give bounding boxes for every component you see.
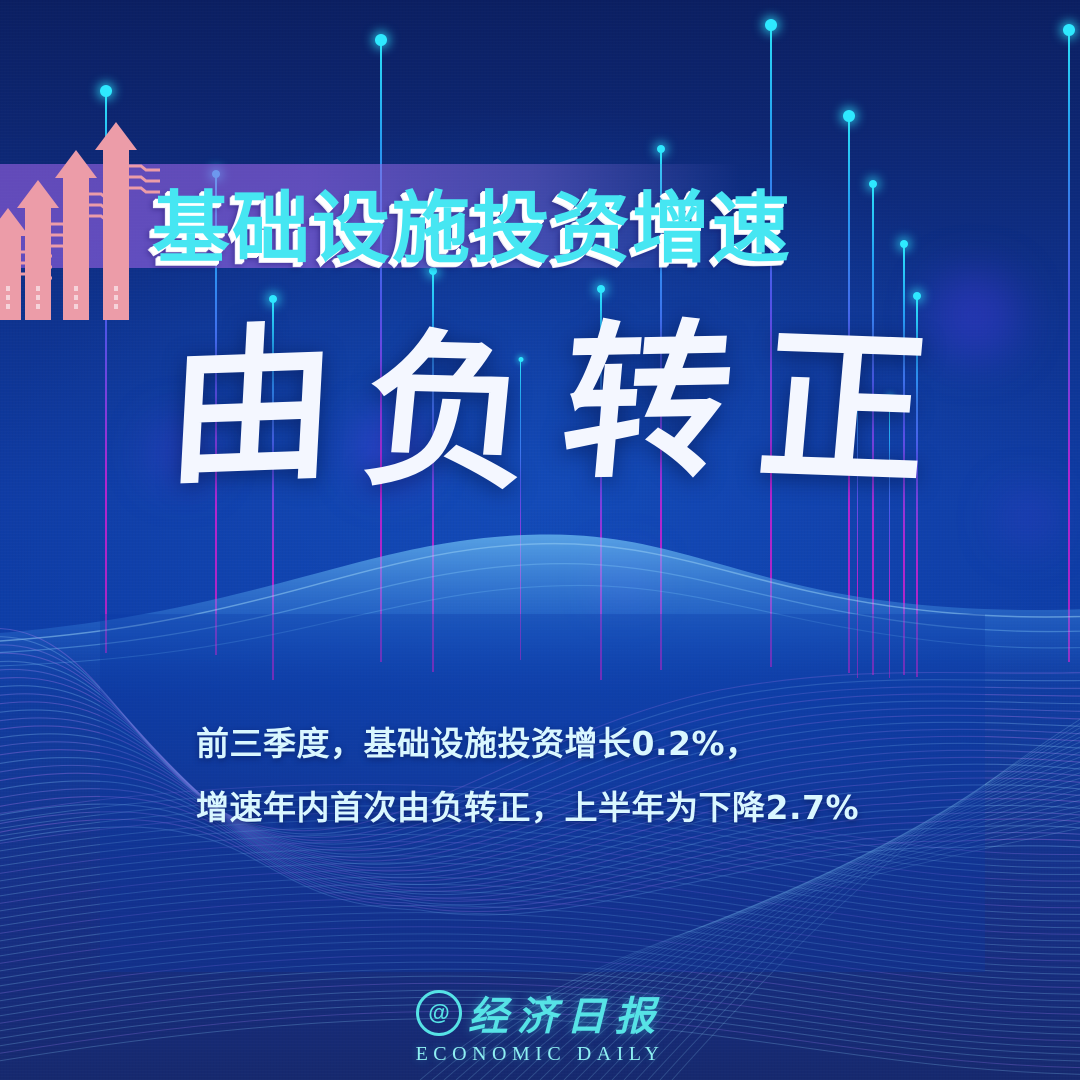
arrow-stem-tick: [6, 286, 10, 291]
bokeh-blob: [600, 555, 650, 605]
arrow-stem-tick: [36, 295, 40, 300]
at-sign-icon: @: [416, 990, 462, 1036]
body-copy-line: 增速年内首次由负转正，上半年为下降2.7%: [196, 776, 956, 840]
logo-row: @ 经济日报: [416, 984, 664, 1042]
arrow-stem-tick: [114, 286, 118, 291]
beam-tip-dot: [1063, 24, 1075, 36]
arrow-stem-tick: [6, 295, 10, 300]
arrow-stem-tick: [36, 286, 40, 291]
headline-char: 由: [163, 319, 340, 493]
light-beam: [1068, 32, 1070, 662]
beam-tip-dot: [765, 19, 777, 31]
bokeh-blob: [930, 270, 1020, 360]
arrow-stem-tick: [74, 286, 78, 291]
beam-tip-dot: [269, 295, 277, 303]
poster-canvas: 基础设施投资增速 由负转正 前三季度，基础设施投资增长0.2%，增速年内首次由负…: [0, 0, 1080, 1080]
headline-calligraphy: 由负转正: [168, 322, 928, 490]
beam-tip-dot: [900, 240, 908, 248]
arrow-stem-tick: [6, 304, 10, 309]
body-copy-line: 前三季度，基础设施投资增长0.2%，: [196, 712, 956, 776]
beam-tip-dot: [869, 180, 877, 188]
arrow-stem-tick: [114, 304, 118, 309]
beam-tip-dot: [657, 145, 665, 153]
brand-logo: @ 经济日报 ECONOMIC DAILY: [0, 984, 1080, 1066]
beam-tip-dot: [597, 285, 605, 293]
beam-tip-dot: [843, 110, 855, 122]
beam-tip-dot: [375, 34, 387, 46]
beam-tip-dot: [100, 85, 112, 97]
arrow-stem-tick: [36, 304, 40, 309]
arrow-stem-tick: [74, 295, 78, 300]
arrow-stem-tick: [74, 304, 78, 309]
headline-char: 转: [556, 317, 739, 488]
headline-char: 正: [753, 321, 935, 495]
arrow-stem-tick: [114, 295, 118, 300]
logo-name-english: ECONOMIC DAILY: [416, 1043, 665, 1066]
page-title: 基础设施投资增速: [152, 166, 792, 278]
logo-name-chinese: 经济日报: [468, 984, 664, 1042]
headline-char: 负: [357, 326, 541, 498]
body-copy: 前三季度，基础设施投资增长0.2%，增速年内首次由负转正，上半年为下降2.7%: [196, 712, 956, 840]
beam-tip-dot: [913, 292, 921, 300]
bokeh-blob: [1000, 490, 1056, 546]
